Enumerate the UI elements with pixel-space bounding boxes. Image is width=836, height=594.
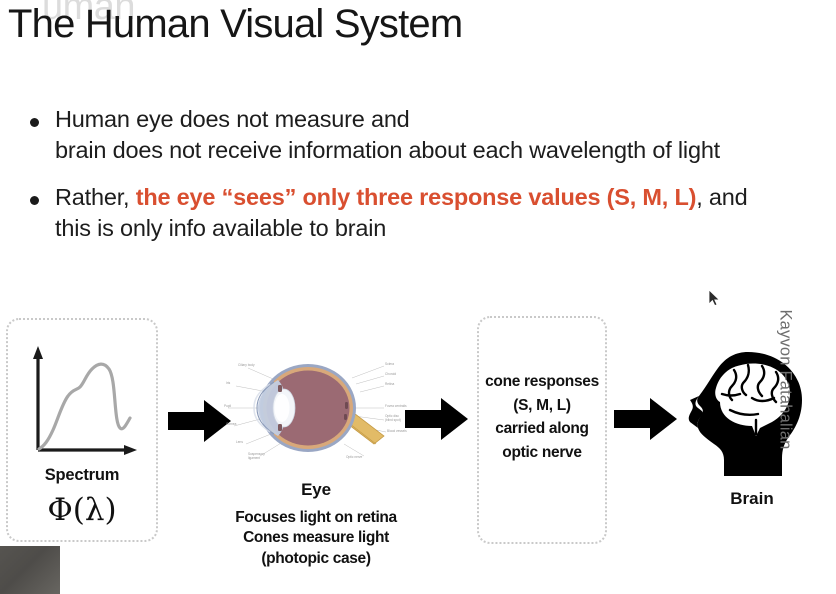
bullet-2-line-2: this is only info available to brain: [55, 213, 748, 244]
svg-text:Ciliary body: Ciliary body: [238, 363, 255, 367]
bullet-dot-icon: [30, 196, 39, 205]
bullet-item-2: Rather, the eye “sees” only three respon…: [30, 182, 748, 245]
spectrum-label: Spectrum: [8, 466, 156, 485]
svg-text:Choroid: Choroid: [385, 372, 396, 376]
bullet-2-line-1: Rather, the eye “sees” only three respon…: [55, 182, 748, 213]
mouse-cursor-icon: [708, 289, 721, 307]
bullet-1-line-2: brain does not receive information about…: [55, 135, 720, 166]
svg-text:Sclera: Sclera: [385, 362, 394, 366]
cone-responses-box: cone responses (S, M, L) carried along o…: [477, 316, 607, 544]
arrow-spectrum-to-eye-icon: [168, 398, 232, 444]
arrow-eye-to-cone-icon: [405, 396, 469, 442]
eye-sub-line-1: Focuses light on retina: [214, 508, 418, 528]
svg-text:Optic nerve: Optic nerve: [346, 455, 363, 459]
eye-subcaptions: Focuses light on retina Cones measure li…: [214, 508, 418, 569]
cone-line-3: carried along: [479, 417, 605, 441]
bullet-item-1: Human eye does not measure and brain doe…: [30, 104, 720, 167]
bullet-2-highlight: the eye “sees” only three response value…: [136, 184, 697, 210]
eye-captions: Eye Focuses light on retina Cones measur…: [214, 480, 418, 569]
svg-text:Fovea centralis: Fovea centralis: [385, 404, 407, 408]
eye-sub-line-3: (photopic case): [214, 549, 418, 569]
svg-text:Cornea: Cornea: [226, 422, 237, 426]
page-title: The Human Visual System: [8, 2, 462, 47]
brain-label: Brain: [686, 489, 818, 509]
bullet-2-text: Rather, the eye “sees” only three respon…: [55, 182, 748, 245]
svg-text:Lens: Lens: [236, 440, 243, 444]
spectrum-plot: [24, 342, 142, 462]
svg-text:(blind spot): (blind spot): [385, 418, 401, 422]
cone-line-2: (S, M, L): [479, 394, 605, 418]
arrow-cone-to-brain-icon: [614, 396, 678, 442]
brain-head-icon: [686, 348, 818, 482]
eye-title: Eye: [214, 480, 418, 500]
svg-text:Pupil: Pupil: [224, 404, 231, 408]
attribution-text: Kayvon Fatahalian: [776, 285, 795, 475]
cone-line-4: optic nerve: [479, 441, 605, 465]
svg-text:ligament: ligament: [248, 456, 260, 460]
svg-text:Iris: Iris: [226, 381, 231, 385]
webcam-thumbnail-overlay: [0, 546, 60, 594]
eye-diagram: Ciliary body Iris Pupil Cornea Lens Susp…: [224, 352, 408, 472]
bullet-2-prefix: Rather,: [55, 184, 136, 210]
cone-responses-text: cone responses (S, M, L) carried along o…: [479, 370, 605, 464]
eye-sub-line-2: Cones measure light: [214, 528, 418, 548]
spectrum-formula: Φ(λ): [8, 492, 156, 528]
cone-line-1: cone responses: [479, 370, 605, 394]
bullet-1-line-1: Human eye does not measure and: [55, 104, 720, 135]
spectrum-box: Spectrum Φ(λ): [6, 318, 158, 542]
slide-canvas: uman The Human Visual System Human eye d…: [0, 0, 836, 594]
bullet-dot-icon: [30, 118, 39, 127]
bullet-1-text: Human eye does not measure and brain doe…: [55, 104, 720, 167]
bullet-2-suffix: , and: [696, 184, 747, 210]
svg-text:Retina: Retina: [385, 382, 394, 386]
